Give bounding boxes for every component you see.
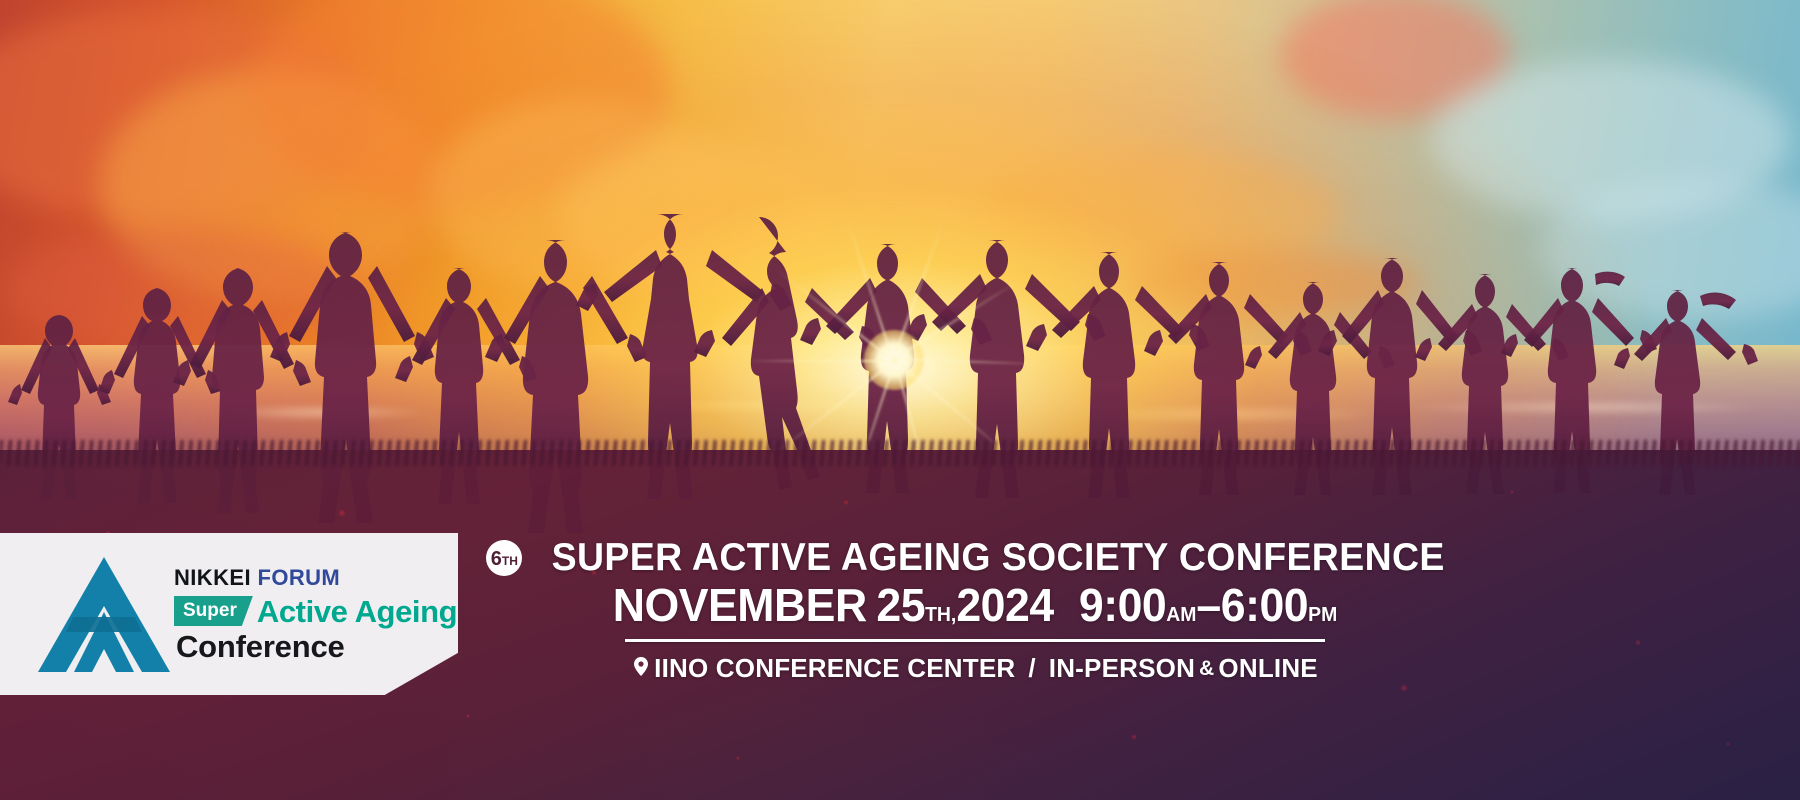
- ordinal-number: 6: [491, 549, 502, 569]
- a-mark-icon: [38, 557, 170, 672]
- conference-title: SUPER ACTIVE AGEING SOCIETY CONFERENCE: [552, 538, 1445, 577]
- nikkei-word: NIKKEI: [174, 565, 251, 590]
- date-time-row: NOVEMBER 25 TH, 2024 9:00 AM – 6:00 PM: [485, 582, 1465, 628]
- super-chip-badge: Super: [174, 596, 253, 626]
- sun-ray: [744, 360, 894, 362]
- format-online: ONLINE: [1218, 655, 1317, 681]
- event-end-meridiem: PM: [1308, 605, 1337, 625]
- nikkei-forum-logo-panel: NIKKEI FORUM Super Active Ageing Society…: [0, 533, 458, 695]
- format-in-person: IN-PERSON: [1049, 655, 1195, 681]
- venue-separator: /: [1028, 655, 1035, 681]
- event-end-time: 6:00: [1221, 582, 1308, 628]
- time-range-dash: –: [1196, 582, 1220, 628]
- ordinal-badge: 6TH: [486, 540, 522, 576]
- event-year: 2024: [956, 582, 1053, 628]
- venue-format-row: IINO CONFERENCE CENTER / IN-PERSON & ONL…: [470, 655, 1480, 681]
- venue-name: IINO CONFERENCE CENTER: [654, 655, 1015, 681]
- event-info-block: 6TH SUPER ACTIVE AGEING SOCIETY CONFEREN…: [470, 538, 1480, 681]
- format-ampersand: &: [1195, 658, 1218, 679]
- divider-rule: [625, 639, 1325, 642]
- event-banner: NIKKEI FORUM Super Active Ageing Society…: [0, 0, 1800, 800]
- forum-word: FORUM: [257, 565, 340, 590]
- conference-title-row: 6TH SUPER ACTIVE AGEING SOCIETY CONFEREN…: [470, 538, 1480, 577]
- event-month: NOVEMBER: [613, 582, 867, 628]
- event-start-time: 9:00: [1079, 582, 1166, 628]
- ordinal-suffix: TH: [502, 555, 518, 567]
- location-pin-icon: [632, 656, 650, 680]
- event-start-meridiem: AM: [1166, 605, 1196, 625]
- event-day-suffix: TH,: [925, 605, 956, 625]
- event-day: 25: [876, 582, 925, 628]
